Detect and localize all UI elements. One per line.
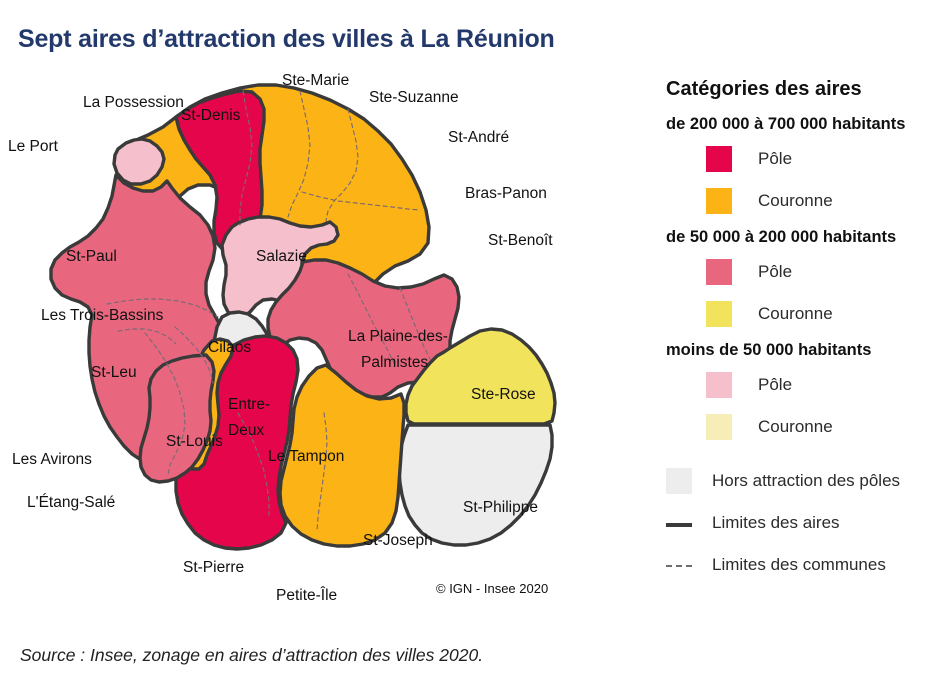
map-label-deux: Deux <box>228 422 264 439</box>
page-title: Sept aires d’attraction des villes à La … <box>18 25 555 54</box>
swatch-couronne-small-icon <box>706 414 732 440</box>
map-label-letang-sale: L'Étang-Salé <box>27 494 115 511</box>
swatch-pole-medium-icon <box>706 259 732 285</box>
map-label-st-denis: St-Denis <box>181 107 241 124</box>
legend-item-pole-large[interactable]: Pôle <box>660 138 951 180</box>
area-pole-le-port[interactable] <box>114 139 164 184</box>
solid-line-icon <box>666 510 692 536</box>
map-label-les-trois-bassins: Les Trois-Bassins <box>41 307 164 324</box>
legend-group-moins-50000: moins de 50 000 habitants Pôle Couronne <box>660 341 951 448</box>
legend-item-couronne-small[interactable]: Couronne <box>660 406 951 448</box>
map-label-la-possession: La Possession <box>83 94 184 111</box>
legend-item-label: Hors attraction des pôles <box>712 471 900 491</box>
map-label-st-paul: St-Paul <box>66 248 117 265</box>
swatch-hors-attraction-icon <box>666 468 692 494</box>
map-label-entre: Entre- <box>228 396 270 413</box>
map-label-st-benoit: St-Benoît <box>488 232 553 249</box>
swatch-pole-large-icon <box>706 146 732 172</box>
legend-item-label: Couronne <box>758 304 833 324</box>
map-label-la-plaine-des: La Plaine-des- <box>348 328 448 345</box>
map-label-st-andre: St-André <box>448 129 509 146</box>
map-panel[interactable]: La Possession Le Port St-Denis Ste-Marie… <box>0 55 660 625</box>
legend-item-label: Pôle <box>758 262 792 282</box>
legend-item-limites-communes[interactable]: Limites des communes <box>660 544 951 586</box>
legend-item-pole-small[interactable]: Pôle <box>660 364 951 406</box>
legend-group-200000-700000: de 200 000 à 700 000 habitants Pôle Cour… <box>660 115 951 222</box>
map-label-petite-ile: Petite-Île <box>276 587 337 604</box>
map-label-salazie: Salazie <box>256 248 307 265</box>
map-label-st-joseph: St-Joseph <box>363 532 433 549</box>
legend-item-couronne-large[interactable]: Couronne <box>660 180 951 222</box>
legend-item-label: Pôle <box>758 149 792 169</box>
map-label-ste-marie: Ste-Marie <box>282 72 349 89</box>
legend-item-couronne-medium[interactable]: Couronne <box>660 293 951 335</box>
swatch-couronne-large-icon <box>706 188 732 214</box>
legend-item-label: Limites des aires <box>712 513 840 533</box>
swatch-couronne-medium-icon <box>706 301 732 327</box>
legend-item-label: Pôle <box>758 375 792 395</box>
map-credit: © IGN - Insee 2020 <box>436 581 548 596</box>
map-label-st-louis: St-Louis <box>166 433 223 450</box>
map-label-st-pierre: St-Pierre <box>183 559 244 576</box>
legend-group-50000-200000: de 50 000 à 200 000 habitants Pôle Couro… <box>660 228 951 335</box>
legend-group-title: de 200 000 à 700 000 habitants <box>666 115 951 134</box>
page-root: Sept aires d’attraction des villes à La … <box>0 0 951 700</box>
legend-item-hors-attraction[interactable]: Hors attraction des pôles <box>660 460 951 502</box>
legend-item-pole-medium[interactable]: Pôle <box>660 251 951 293</box>
map-label-les-avirons: Les Avirons <box>12 451 92 468</box>
map-legend: Catégories des aires de 200 000 à 700 00… <box>660 78 951 586</box>
map-label-le-port: Le Port <box>8 138 59 155</box>
legend-item-limites-aires[interactable]: Limites des aires <box>660 502 951 544</box>
map-label-st-philippe: St-Philippe <box>463 499 538 516</box>
reunion-choropleth-map[interactable]: La Possession Le Port St-Denis Ste-Marie… <box>0 55 660 625</box>
map-label-st-leu: St-Leu <box>91 364 137 381</box>
legend-item-label: Couronne <box>758 191 833 211</box>
legend-group-title: de 50 000 à 200 000 habitants <box>666 228 951 247</box>
legend-item-label: Limites des communes <box>712 555 886 575</box>
map-label-cilaos: Cilaos <box>208 339 251 356</box>
map-label-bras-panon: Bras-Panon <box>465 185 547 202</box>
legend-item-label: Couronne <box>758 417 833 437</box>
map-label-ste-suzanne: Ste-Suzanne <box>369 89 459 106</box>
swatch-pole-small-icon <box>706 372 732 398</box>
legend-title: Catégories des aires <box>666 78 951 101</box>
dashed-line-icon <box>666 552 692 578</box>
map-label-le-tampon: Le Tampon <box>268 448 344 465</box>
source-note: Source : Insee, zonage en aires d’attrac… <box>20 645 483 666</box>
map-label-ste-rose: Ste-Rose <box>471 386 536 403</box>
legend-group-title: moins de 50 000 habitants <box>666 341 951 360</box>
area-hors-attraction-saint-philippe[interactable] <box>399 425 552 545</box>
map-label-palmistes: Palmistes <box>361 354 428 371</box>
